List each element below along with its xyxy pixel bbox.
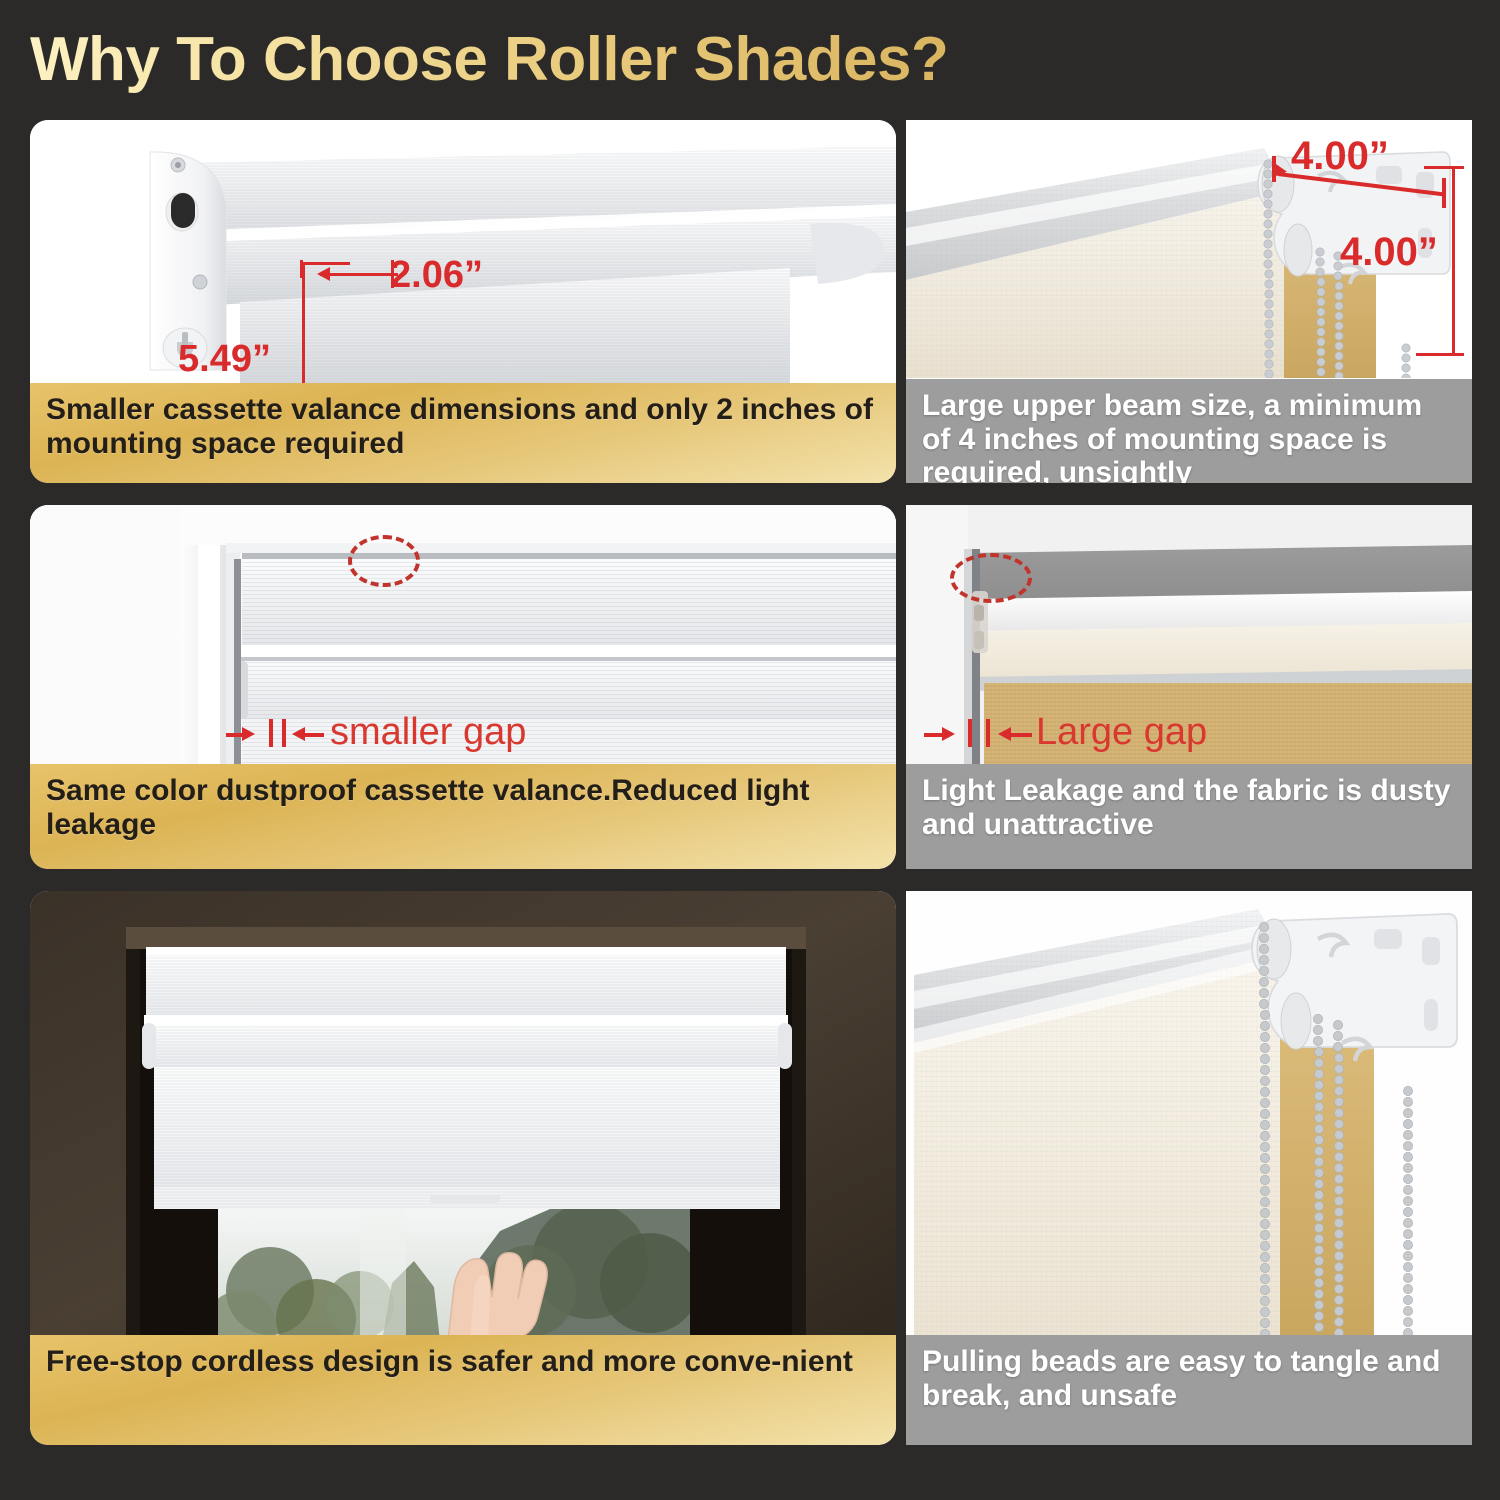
gap-tick-right xyxy=(282,719,286,747)
width-dimension-tick-left xyxy=(300,260,303,278)
height-dimension-line xyxy=(302,262,305,388)
panel-top-left-image: 5.49” 2.06” xyxy=(30,120,896,388)
panel-bottom-right-caption: Pulling beads are easy to tangle and bre… xyxy=(906,1335,1472,1445)
gap-line-right xyxy=(1010,733,1032,737)
gap-callout-label: Large gap xyxy=(1036,711,1207,754)
gap-line-right xyxy=(304,733,324,737)
panel-top-right-image: 4.00” 4.00” xyxy=(906,120,1472,378)
panel-bottom-left-image xyxy=(30,891,896,1341)
panel-middle-left: smaller gap Same color dustproof cassett… xyxy=(30,505,896,869)
gap-tick-right xyxy=(986,719,990,747)
top-width-dimension-label: 4.00” xyxy=(1291,134,1389,179)
height-dimension-label: 5.49” xyxy=(178,338,271,381)
gap-line-left xyxy=(226,733,246,737)
panel-top-right: 4.00” 4.00” Large upper beam size, a min… xyxy=(906,120,1472,483)
top-width-tick-left xyxy=(1272,156,1276,182)
dashed-highlight-circle xyxy=(348,535,420,587)
width-dimension-arrow-left xyxy=(317,267,330,281)
panel-middle-left-image: smaller gap xyxy=(30,505,896,769)
side-height-dimension-label: 4.00” xyxy=(1340,230,1438,275)
side-height-tick-bottom xyxy=(1416,353,1464,356)
panel-bottom-right-image xyxy=(906,891,1472,1335)
panel-middle-left-caption: Same color dustproof cassette valance.Re… xyxy=(30,764,896,869)
page-title: Why To Choose Roller Shades? xyxy=(30,20,1230,100)
width-dimension-line xyxy=(320,273,398,276)
dashed-highlight-circle xyxy=(950,553,1032,603)
infographic-root: Why To Choose Roller Shades? xyxy=(0,0,1500,1500)
panel-middle-right: Large gap Light Leakage and the fabric i… xyxy=(906,505,1472,869)
cordless-shade-window-scene xyxy=(30,891,896,1341)
gap-line-left xyxy=(924,733,946,737)
gap-tick-left xyxy=(968,719,972,747)
panel-middle-right-image: Large gap xyxy=(906,505,1472,771)
width-dimension-label: 2.06” xyxy=(390,254,483,297)
panel-bottom-right: Pulling beads are easy to tangle and bre… xyxy=(906,891,1472,1445)
panel-top-right-caption: Large upper beam size, a minimum of 4 in… xyxy=(906,379,1472,483)
side-height-dimension-line xyxy=(1452,166,1455,356)
side-height-tick-top xyxy=(1424,166,1464,169)
height-dimension-tick-top xyxy=(302,262,350,265)
panel-middle-right-caption: Light Leakage and the fabric is dusty an… xyxy=(906,764,1472,869)
panel-bottom-left: Free-stop cordless design is safer and m… xyxy=(30,891,896,1445)
gap-callout-label: smaller gap xyxy=(330,711,526,754)
panel-top-left: 5.49” 2.06” Smaller cassette valance dim… xyxy=(30,120,896,483)
panel-bottom-left-caption: Free-stop cordless design is safer and m… xyxy=(30,1335,896,1445)
top-width-tick-right xyxy=(1442,178,1446,208)
panel-top-left-caption: Smaller cassette valance dimensions and … xyxy=(30,383,896,483)
bead-chain-shade-illustration xyxy=(906,891,1472,1335)
gap-tick-left xyxy=(269,719,273,747)
